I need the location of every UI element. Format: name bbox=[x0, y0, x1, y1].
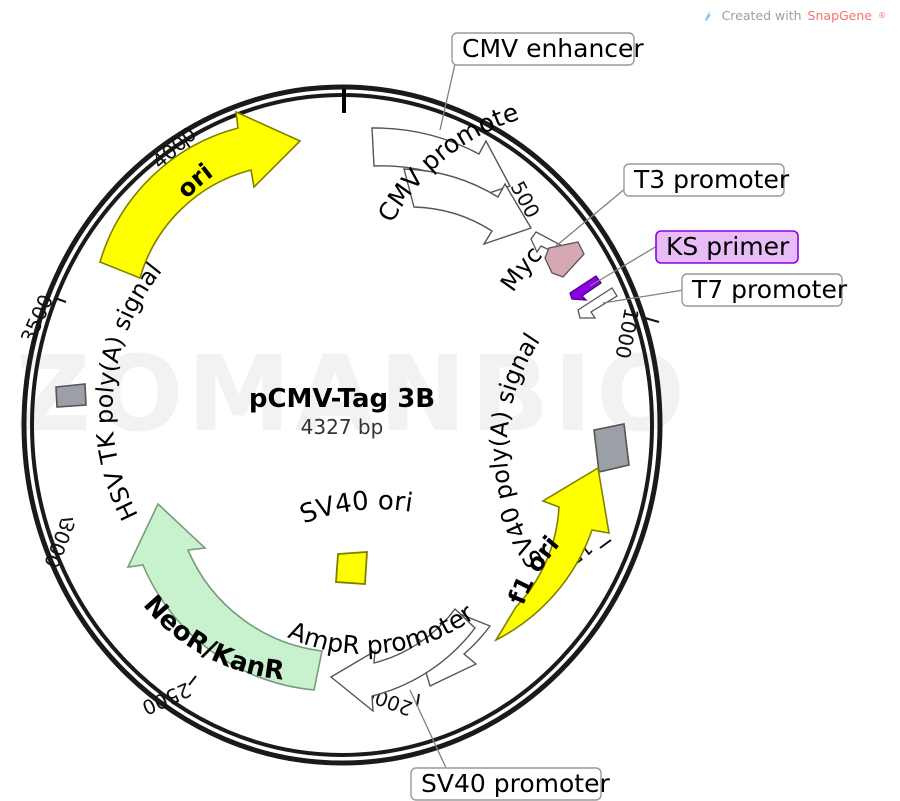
callout-label-t7-promoter: T7 promoter bbox=[691, 275, 848, 304]
snapgene-logo-icon bbox=[702, 9, 716, 23]
callout-label-t3-promoter: T3 promoter bbox=[633, 165, 790, 194]
callout-label-sv40-promoter: SV40 promoter bbox=[421, 769, 610, 798]
feature-ori[interactable]: ori bbox=[100, 112, 300, 278]
plasmid-map-canvas: Created with SnapGene® ZOMANBIO bbox=[0, 0, 900, 801]
callout-ks-primer[interactable]: KS primer bbox=[656, 231, 798, 263]
attribution-prefix: Created with bbox=[722, 8, 802, 23]
callout-t7-promoter[interactable]: T7 promoter bbox=[682, 274, 848, 306]
snapgene-attribution: Created with SnapGene® bbox=[702, 8, 886, 23]
attribution-brand-name: SnapGene bbox=[808, 8, 872, 23]
callout-label-cmv-enhancer: CMV enhancer bbox=[462, 34, 644, 63]
feature-ks-primer[interactable] bbox=[570, 276, 601, 300]
leader-line-ks-primer bbox=[590, 246, 657, 286]
plasmid-length: 4327 bp bbox=[301, 415, 384, 439]
callout-t3-promoter[interactable]: T3 promoter bbox=[624, 164, 790, 196]
callout-cmv-enhancer[interactable]: CMV enhancer bbox=[452, 33, 644, 65]
feature-cmv-promoter[interactable]: CMV promoter bbox=[0, 0, 531, 244]
feature-label-sv40-ori: SV40 ori bbox=[296, 486, 415, 530]
callout-sv40-promoter[interactable]: SV40 promoter bbox=[411, 768, 610, 800]
feature-sv40-ori[interactable]: SV40 ori bbox=[296, 486, 415, 584]
feature-neor-kanr[interactable]: NeoR/KanR bbox=[128, 504, 322, 690]
attribution-registered-mark: ® bbox=[878, 11, 886, 20]
leader-line-cmv-enhancer bbox=[440, 64, 455, 130]
leader-line-sv40-promoter bbox=[410, 690, 447, 770]
plasmid-diagram: ZOMANBIO 500 1000 1500 2000 2500 bbox=[0, 0, 900, 801]
page-title: pCMV-Tag 3B bbox=[249, 384, 435, 414]
callout-label-ks-primer: KS primer bbox=[666, 232, 790, 261]
